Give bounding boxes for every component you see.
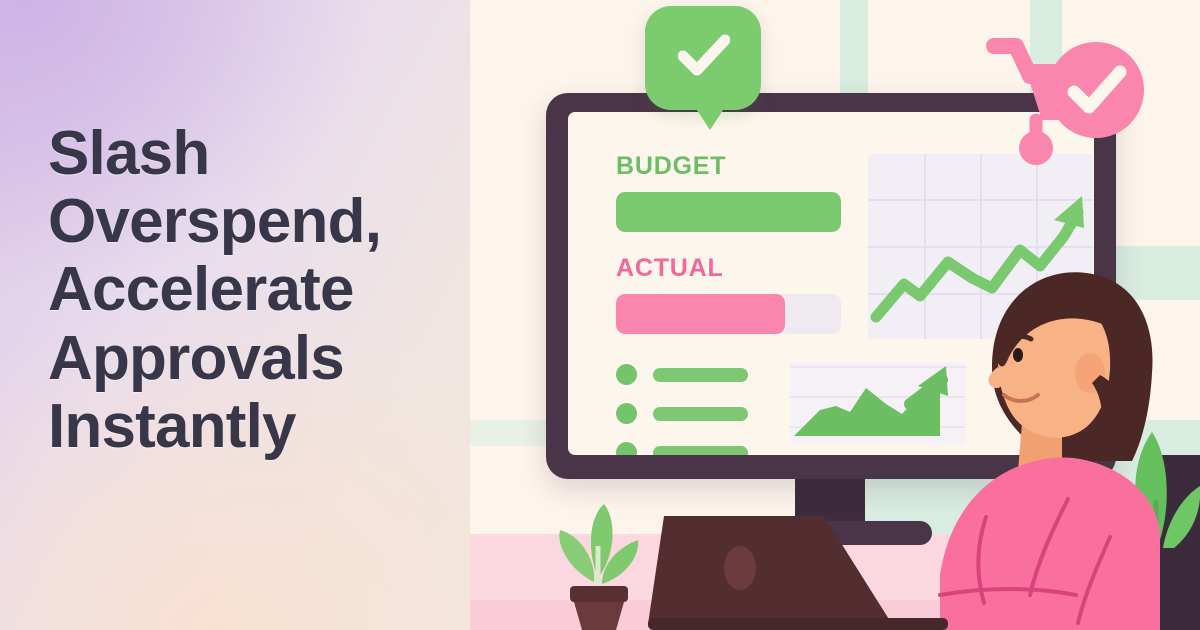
list-item-bar xyxy=(653,407,748,421)
page-title: Slash Overspend, Accelerate Approvals In… xyxy=(48,120,468,461)
laptop xyxy=(648,500,948,630)
actual-bar-fill xyxy=(616,294,785,334)
pot xyxy=(574,602,624,630)
headline-line-5: Instantly xyxy=(48,393,468,461)
sweater xyxy=(940,457,1160,630)
list-item-bar xyxy=(653,368,748,382)
actual-label: ACTUAL xyxy=(616,254,848,283)
laptop-lid xyxy=(648,516,892,624)
check-dot-icon xyxy=(616,403,637,424)
headline-line-4: Approvals xyxy=(48,325,468,393)
headline-line-1: Slash xyxy=(48,120,468,188)
budget-label: BUDGET xyxy=(616,152,848,181)
budget-bar-fill xyxy=(616,192,841,232)
actual-bar-track xyxy=(616,294,841,334)
headline-line-3: Accelerate xyxy=(48,256,468,324)
laptop-logo xyxy=(724,546,756,590)
speech-bubble-tail xyxy=(693,104,727,130)
cart-check-badge xyxy=(1048,42,1144,138)
shopping-cart-approved-badge xyxy=(986,24,1148,170)
eye xyxy=(1013,348,1023,362)
metric-actual: ACTUAL xyxy=(616,254,848,334)
check-dot-icon xyxy=(616,442,637,455)
leaf xyxy=(559,530,594,582)
pot-rim xyxy=(570,586,628,602)
hero-banner-canvas: BUDGET ACTUAL xyxy=(0,0,1200,630)
headline-line-2: Overspend, xyxy=(48,188,468,256)
metric-budget: BUDGET xyxy=(616,152,848,232)
list-item-bar xyxy=(653,446,748,456)
check-icon xyxy=(678,34,730,78)
check-dot-icon xyxy=(616,364,637,385)
desk-plant-left xyxy=(548,500,652,630)
laptop-base xyxy=(648,618,948,630)
budget-bar-track xyxy=(616,192,841,232)
